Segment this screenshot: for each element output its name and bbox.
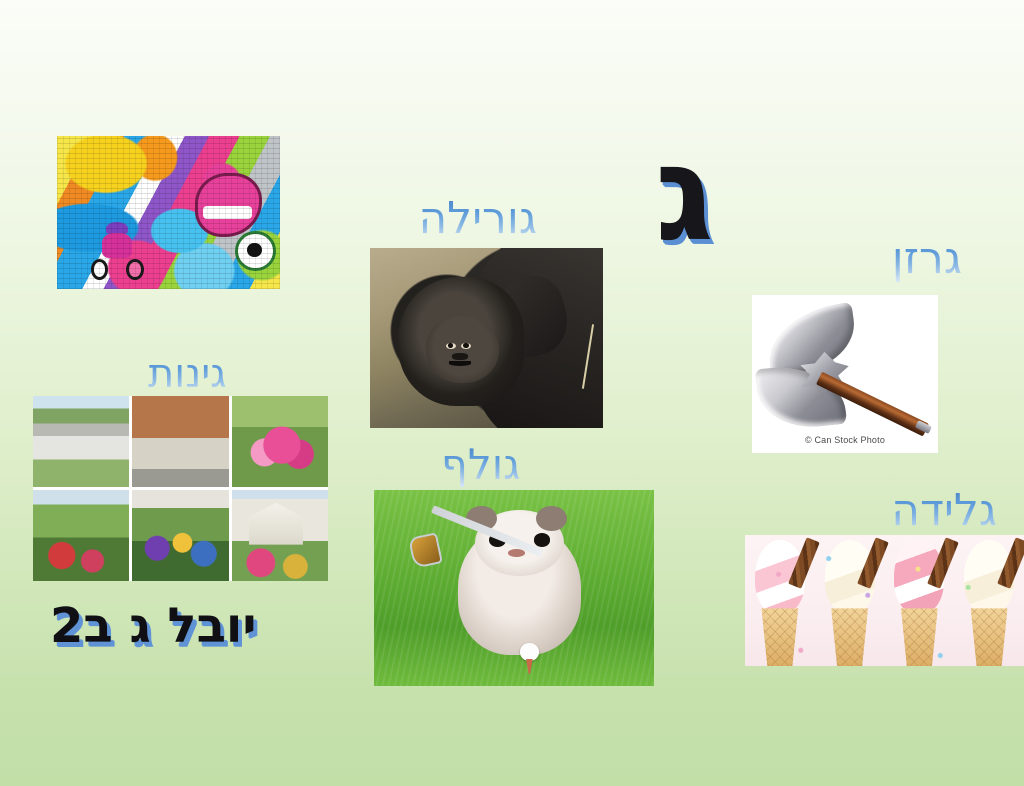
graffiti-bike-rider-icon xyxy=(93,222,142,280)
gorilla-eye-left-icon xyxy=(446,343,455,349)
baby-gorilla-shape xyxy=(398,277,524,407)
gardens-collage-image[interactable] xyxy=(33,396,328,581)
graffiti-monster-icon xyxy=(195,173,262,237)
garden-tile-3 xyxy=(232,396,328,487)
golf-tee-icon xyxy=(524,659,535,675)
icecream-cone-3 xyxy=(885,535,955,666)
presentation-slide: ג גורילה גרזן © Can Stock Photo גינות xyxy=(0,0,1024,786)
gorilla-face-shape xyxy=(426,316,499,383)
hamster-eye-right-icon xyxy=(534,533,551,547)
graffiti-image[interactable] xyxy=(57,136,280,289)
golf-ball-icon xyxy=(520,643,540,661)
garden-tile-1 xyxy=(33,396,129,487)
garden-tile-4 xyxy=(33,490,129,581)
graffiti-teeth-icon xyxy=(203,206,252,219)
gorilla-image[interactable] xyxy=(370,248,603,428)
garden-tile-2 xyxy=(132,396,228,487)
gorilla-eye-right-icon xyxy=(461,343,470,349)
gorilla-nose-icon xyxy=(452,353,468,360)
garden-tile-6 xyxy=(232,490,328,581)
icecream-cone-1 xyxy=(745,535,815,666)
page-title-letter: ג xyxy=(655,128,714,260)
gorilla-mouth-icon xyxy=(449,361,471,366)
label-golf: גולף xyxy=(441,443,521,487)
axe-image[interactable]: © Can Stock Photo xyxy=(752,295,938,453)
graffiti-eye-icon xyxy=(235,231,275,271)
label-gardens: גינות xyxy=(148,353,227,395)
icecream-cone-2 xyxy=(815,535,885,666)
image-watermark: © Can Stock Photo xyxy=(752,435,938,445)
garden-tile-5 xyxy=(132,490,228,581)
golf-club-head-shape xyxy=(411,535,441,567)
label-axe: גרזן xyxy=(892,236,962,282)
label-gorilla: גורילה xyxy=(418,196,537,242)
icecream-image[interactable] xyxy=(745,535,1024,666)
golf-hamster-image[interactable] xyxy=(374,490,654,686)
hamster-nose-icon xyxy=(508,549,525,557)
author-name: יובל ג ב2 xyxy=(50,602,256,650)
label-icecream: גלידה xyxy=(891,488,997,534)
icecream-cone-4 xyxy=(954,535,1024,666)
hamster-ear-right-icon xyxy=(536,506,567,531)
